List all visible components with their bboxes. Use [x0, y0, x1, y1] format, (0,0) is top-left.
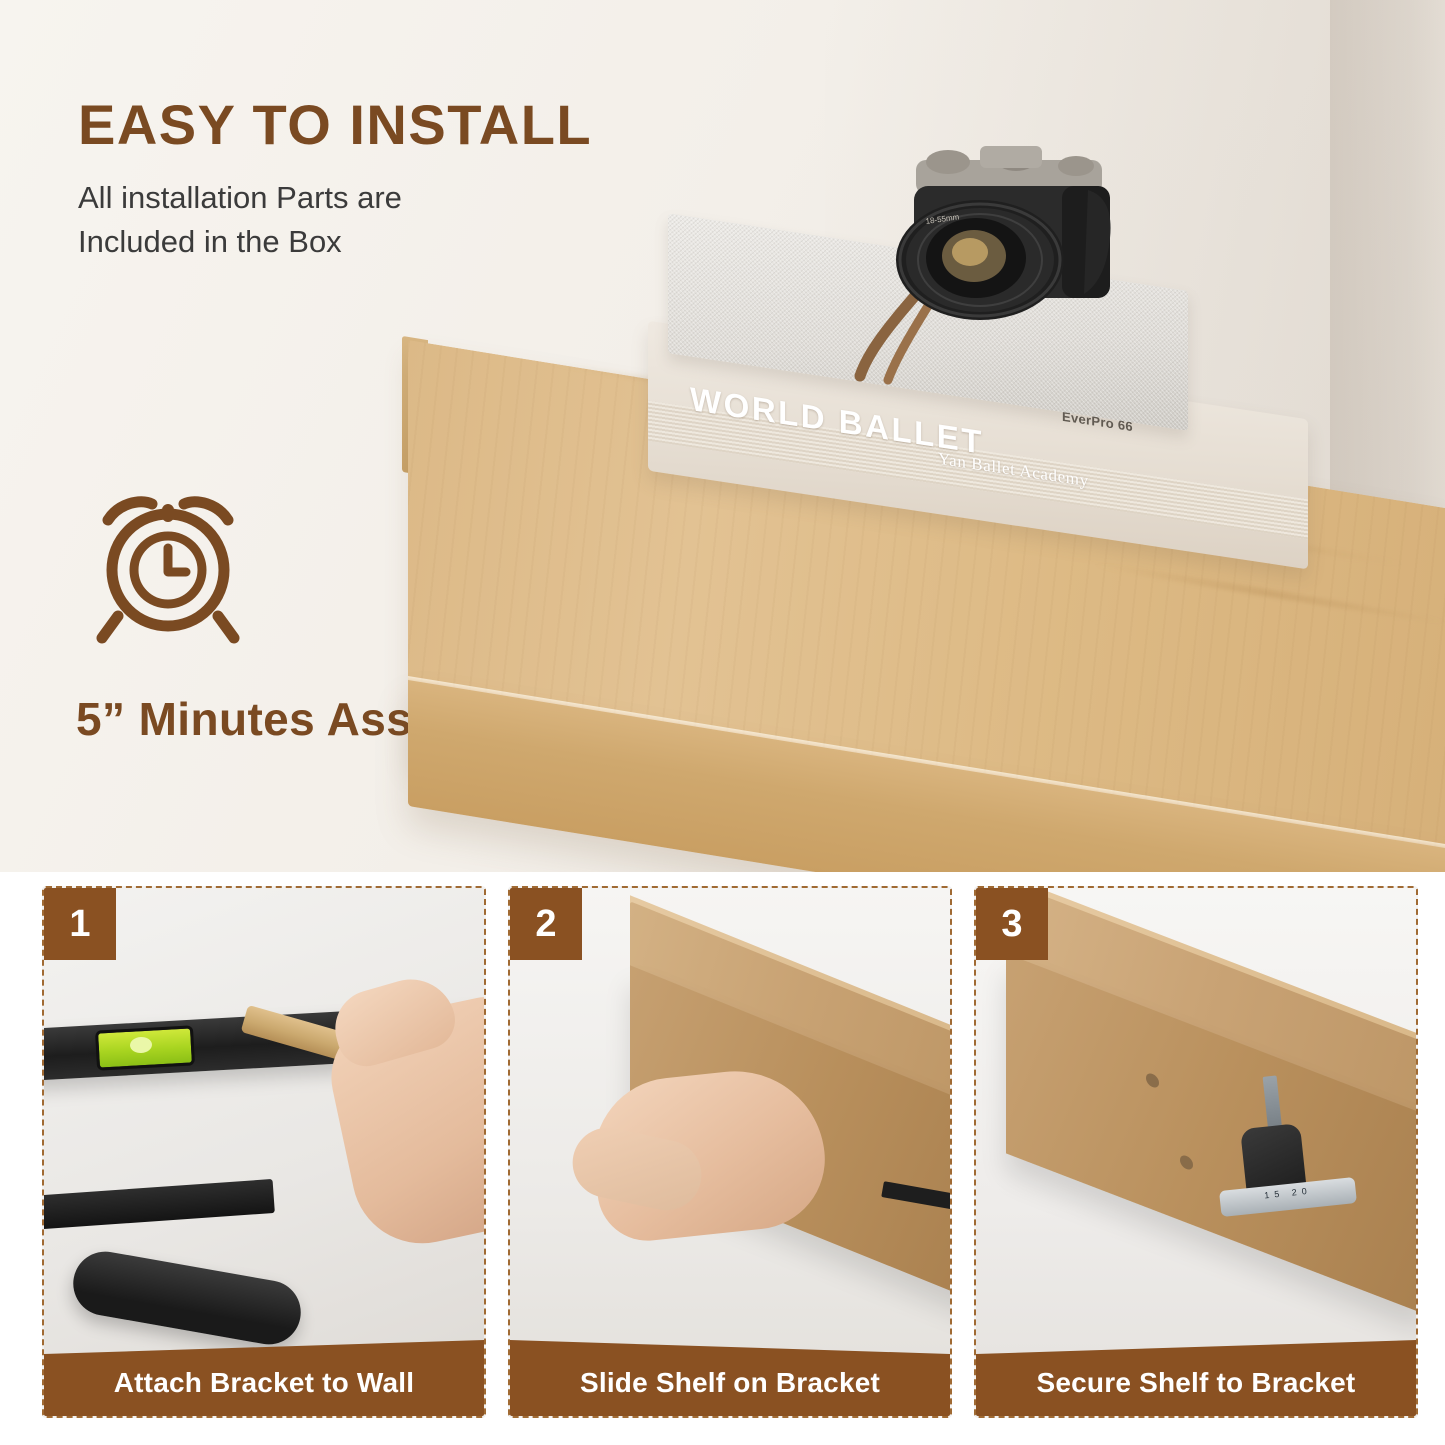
hero-subtitle-line1: All installation Parts are [78, 180, 402, 215]
step-number-badge: 2 [510, 888, 582, 960]
step-number-badge: 3 [976, 888, 1048, 960]
steps-row: 1 Attach Bracket to Wall 2 Slide Shelf o… [42, 886, 1418, 1418]
step-card-2: 2 Slide Shelf on Bracket [508, 886, 952, 1418]
attach-bracket-photo [44, 888, 484, 1416]
hero-section: EASY TO INSTALL All installation Parts a… [0, 0, 1445, 880]
step-card-1: 1 Attach Bracket to Wall [42, 886, 486, 1418]
alarm-clock-icon [78, 486, 258, 656]
product-photo: Another Book WORLD BALLET Yan Ballet Aca… [390, 120, 1445, 850]
slide-shelf-photo [510, 888, 950, 1416]
step-number-badge: 1 [44, 888, 116, 960]
secure-shelf-photo: 15 20 [976, 888, 1416, 1416]
drill-body [1221, 1182, 1354, 1329]
camera: 18-55mm [830, 138, 1160, 388]
step-card-3: 15 20 3 Secure Shelf to Bracket [974, 886, 1418, 1418]
hero-subtitle-line2: Included in the Box [78, 224, 342, 259]
installation-steps-section: 1 Attach Bracket to Wall 2 Slide Shelf o… [0, 872, 1445, 1445]
